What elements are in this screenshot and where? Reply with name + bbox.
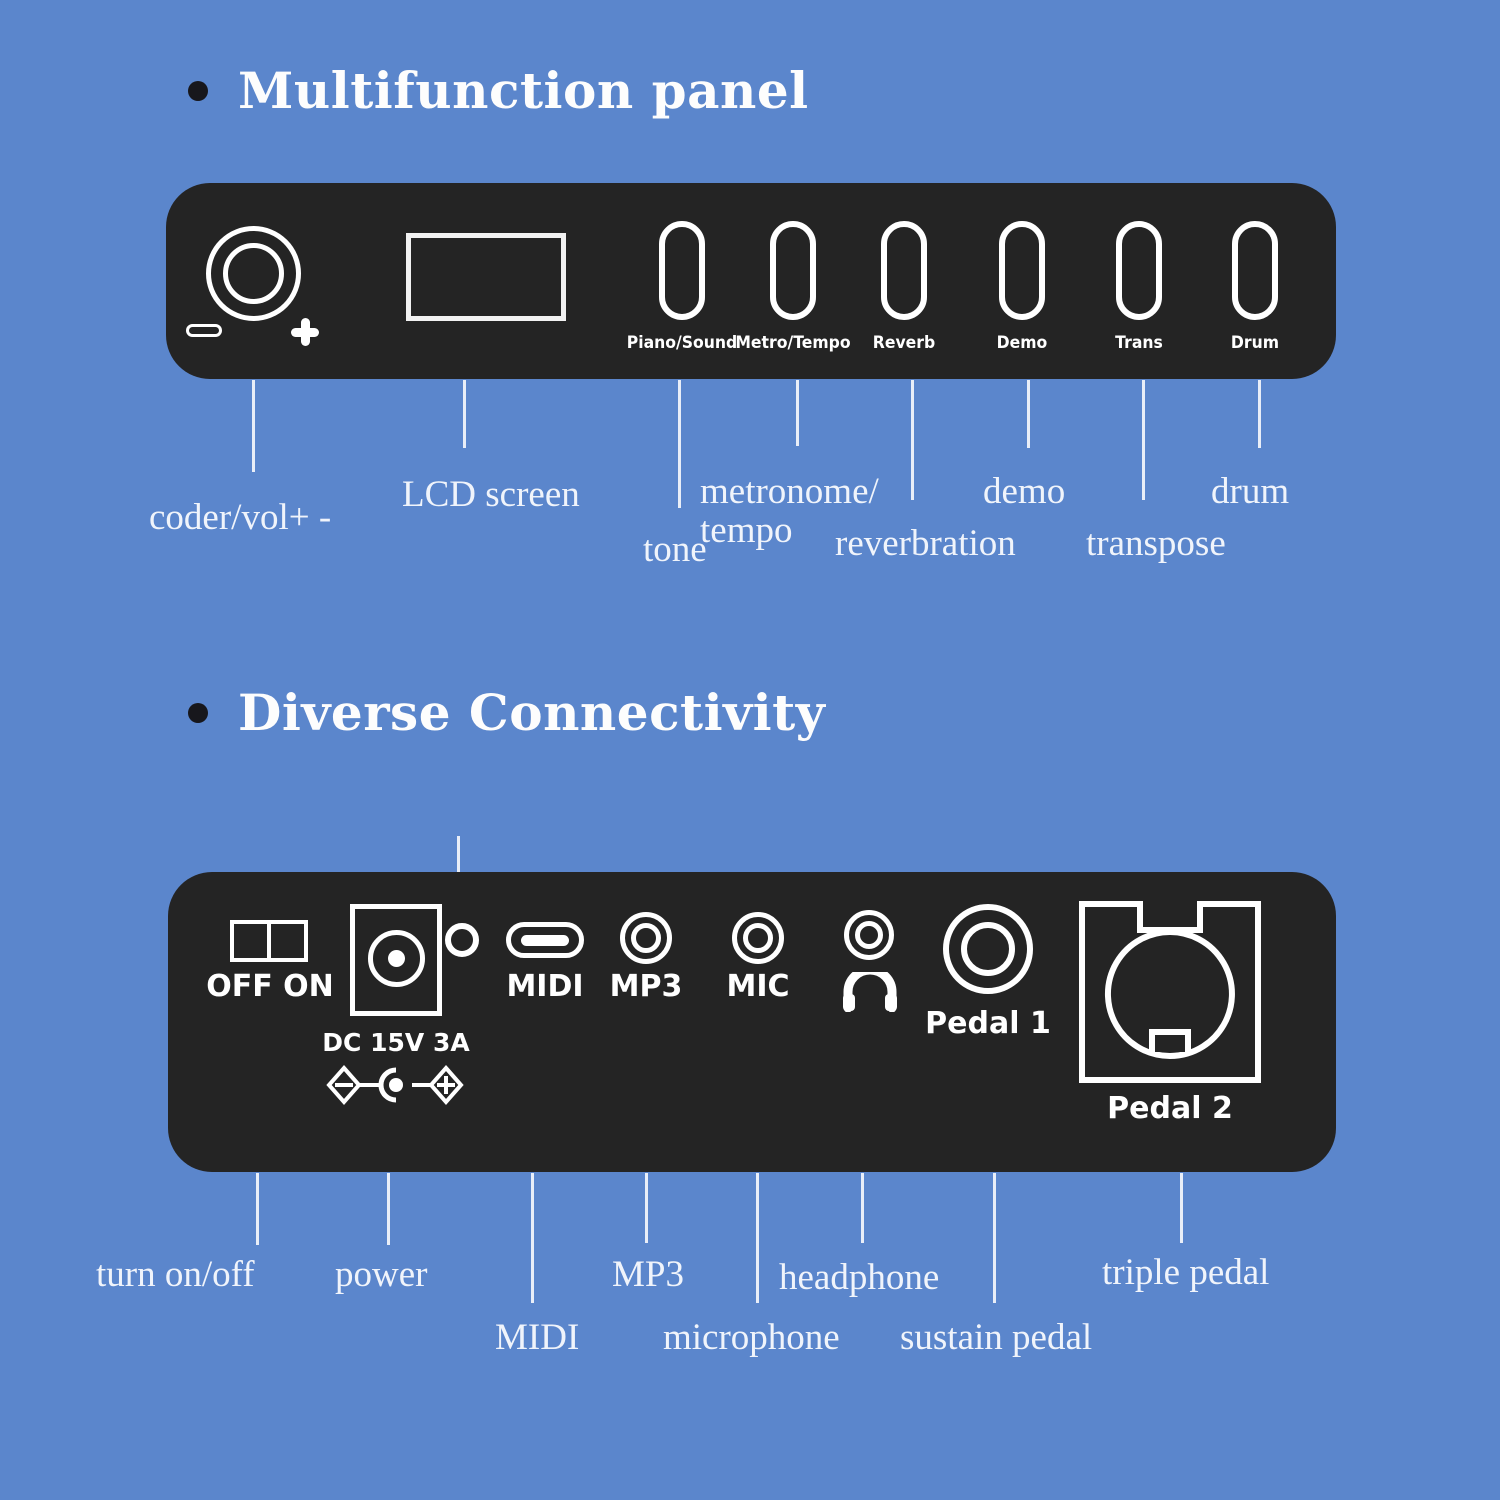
mp3-jack-inner-icon — [631, 923, 661, 953]
callout-lcd-screen: LCD screen — [402, 475, 580, 514]
minus-icon — [186, 324, 222, 337]
midi-label: MIDI — [490, 972, 600, 1002]
callout-drum: drum — [1211, 472, 1289, 511]
button-trans[interactable] — [1116, 221, 1162, 320]
leader-line-coder — [252, 380, 255, 472]
bullet-icon — [188, 81, 208, 101]
leader-line-midi — [531, 1173, 534, 1303]
callout-transpose: transpose — [1086, 524, 1226, 563]
callout-triple-pedal: triple pedal — [1102, 1253, 1269, 1292]
pedal1-jack-inner-icon — [961, 922, 1015, 976]
callout-power: power — [335, 1255, 427, 1294]
callout-demo: demo — [983, 472, 1065, 511]
button-drum[interactable] — [1232, 221, 1278, 320]
callout-turn-on-off: turn on/off — [96, 1255, 255, 1294]
leader-line-metronome — [796, 380, 799, 446]
infographic-stage: Multifunction panel Piano/Sound Metro/Te… — [0, 0, 1500, 1500]
usb-c-port-icon[interactable] — [506, 922, 584, 958]
leader-line-power — [387, 1173, 390, 1245]
callout-headphone: headphone — [779, 1258, 939, 1297]
button-reverb[interactable] — [881, 221, 927, 320]
bullet-icon — [188, 703, 208, 723]
button-label-trans: Trans — [1081, 335, 1197, 352]
leader-line-microphone — [756, 1173, 759, 1303]
button-label-reverb: Reverb — [846, 335, 962, 352]
din-pedal-connector-icon[interactable] — [1078, 900, 1262, 1084]
leader-line-transpose — [1142, 380, 1145, 500]
led-indicator-icon — [445, 923, 479, 957]
leader-line-sustain-pedal — [993, 1173, 996, 1303]
mic-jack-inner-icon — [743, 923, 773, 953]
callout-midi: MIDI — [495, 1318, 579, 1357]
mic-label: MIC — [703, 972, 813, 1002]
leader-line-drum — [1258, 380, 1261, 448]
callout-mp3: MP3 — [612, 1255, 684, 1294]
leader-line-lcd — [463, 380, 466, 448]
callout-reverbration: reverbration — [835, 524, 1016, 563]
lcd-screen — [406, 233, 566, 321]
leader-line-reverbration — [911, 380, 914, 500]
headphone-jack-inner-icon — [855, 921, 883, 949]
button-label-demo: Demo — [964, 335, 1080, 352]
section-heading-label: Multifunction panel — [238, 66, 809, 116]
section-heading-multifunction-panel: Multifunction panel — [188, 66, 809, 116]
button-label-metro-tempo: Metro/Tempo — [735, 335, 851, 352]
callout-microphone: microphone — [663, 1318, 840, 1357]
pedal2-label: Pedal 2 — [1088, 1094, 1252, 1124]
leader-line-turn-on-off — [256, 1173, 259, 1245]
section-heading-label: Diverse Connectivity — [238, 688, 825, 738]
rocker-half-off — [234, 924, 267, 958]
callout-tone: tone — [643, 530, 707, 569]
section-heading-diverse-connectivity: Diverse Connectivity — [188, 688, 825, 738]
button-label-drum: Drum — [1197, 335, 1313, 352]
connectivity-panel: OFF ON DC 15V 3A MIDI MP3 — [168, 872, 1336, 1172]
leader-line-headphone — [861, 1173, 864, 1243]
rocker-switch-icon[interactable] — [230, 920, 308, 962]
leader-line-tone — [678, 380, 681, 508]
rotary-encoder-knob-inner-icon[interactable] — [223, 243, 284, 304]
leader-line-triple-pedal — [1180, 1173, 1183, 1243]
callout-sustain-pedal: sustain pedal — [900, 1318, 1092, 1357]
plus-icon — [291, 318, 319, 346]
multifunction-panel: Piano/Sound Metro/Tempo Reverb Demo Tran… — [166, 183, 1336, 379]
center-positive-polarity-icon — [326, 1064, 466, 1106]
leader-line-demo — [1027, 380, 1030, 448]
mp3-label: MP3 — [591, 972, 701, 1002]
button-label-piano-sound: Piano/Sound — [624, 335, 740, 352]
headphone-icon — [842, 972, 898, 1012]
dc-jack-label: DC 15V 3A — [320, 1030, 472, 1055]
pedal1-label: Pedal 1 — [918, 1009, 1058, 1039]
button-metro-tempo[interactable] — [770, 221, 816, 320]
leader-line-mp3 — [645, 1173, 648, 1243]
callout-coder-vol: coder/vol+ - — [149, 498, 331, 537]
button-demo[interactable] — [999, 221, 1045, 320]
button-piano-sound[interactable] — [659, 221, 705, 320]
rocker-half-on — [267, 924, 304, 958]
dc-jack-pin-icon — [388, 950, 405, 967]
power-switch-label: OFF ON — [200, 972, 340, 1002]
